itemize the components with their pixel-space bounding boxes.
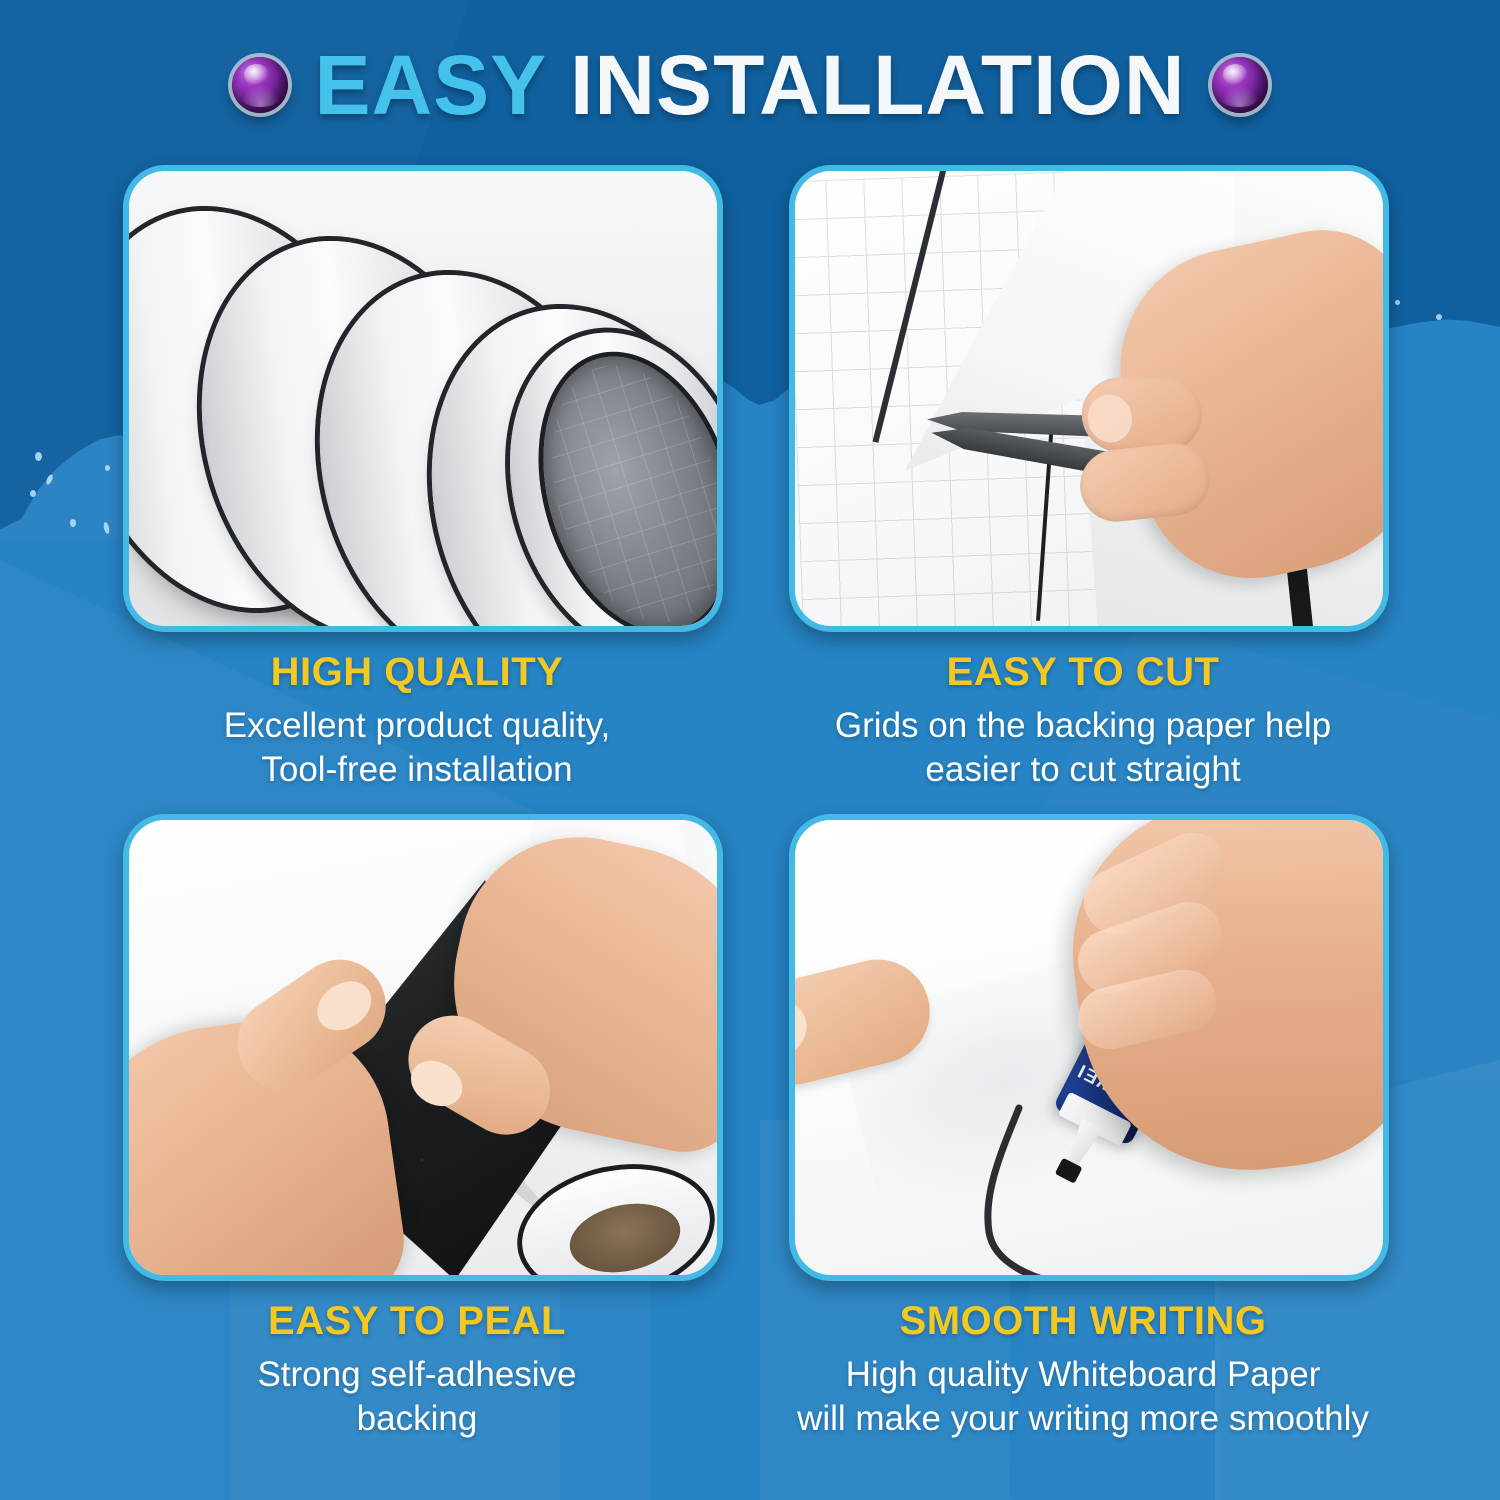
- purple-pushpin-icon-right: [1212, 57, 1268, 113]
- purple-pushpin-icon-left: [232, 57, 288, 113]
- feature-body: Strong self-adhesive backing: [131, 1353, 703, 1441]
- feature-row-2: EASY TO PEAL Strong self-adhesive backin…: [0, 814, 1500, 1441]
- feature-caption: HIGH QUALITY Excellent product quality, …: [123, 632, 711, 792]
- photo-marker-writing[interactable]: JIAWEI og JW-528 No.1: [789, 814, 1389, 1281]
- feature-card-easy-to-peal: EASY TO PEAL Strong self-adhesive backin…: [123, 814, 711, 1441]
- page-header: EASY INSTALLATION: [0, 30, 1500, 140]
- feature-caption: EASY TO PEAL Strong self-adhesive backin…: [123, 1281, 711, 1441]
- feature-title: HIGH QUALITY: [131, 650, 703, 694]
- feature-caption: EASY TO CUT Grids on the backing paper h…: [789, 632, 1377, 792]
- feature-body-line: easier to cut straight: [797, 748, 1369, 792]
- feature-body-line: Strong self-adhesive: [131, 1353, 703, 1397]
- page-title-accent: EASY: [314, 38, 545, 132]
- feature-body-line: Grids on the backing paper help: [797, 704, 1369, 748]
- easy-installation-infographic: EASY INSTALLATION: [0, 0, 1500, 1500]
- feature-body-line: Excellent product quality,: [131, 704, 703, 748]
- hand-right-holding: [426, 820, 717, 1163]
- feature-card-easy-to-cut: EASY TO CUT Grids on the backing paper h…: [789, 165, 1377, 792]
- feature-caption: SMOOTH WRITING High quality Whiteboard P…: [789, 1281, 1377, 1441]
- fingernail: [795, 990, 813, 1068]
- feature-row-1: HIGH QUALITY Excellent product quality, …: [0, 165, 1500, 792]
- photo-rolled-sheet[interactable]: [123, 165, 723, 632]
- feature-body-line: will make your writing more smoothly: [797, 1397, 1369, 1441]
- feature-title: SMOOTH WRITING: [797, 1299, 1369, 1343]
- page-title-main: INSTALLATION: [570, 38, 1185, 132]
- feature-card-high-quality: HIGH QUALITY Excellent product quality, …: [123, 165, 711, 792]
- feature-body-line: backing: [131, 1397, 703, 1441]
- feature-body: Excellent product quality, Tool-free ins…: [131, 704, 703, 792]
- feature-title: EASY TO CUT: [797, 650, 1369, 694]
- page-title: EASY INSTALLATION: [314, 43, 1185, 127]
- feature-body: High quality Whiteboard Paper will make …: [797, 1353, 1369, 1441]
- photo-peeling-backing[interactable]: [123, 814, 723, 1281]
- feature-body-line: High quality Whiteboard Paper: [797, 1353, 1369, 1397]
- feature-card-smooth-writing: JIAWEI og JW-528 No.1: [789, 814, 1377, 1441]
- feature-body-line: Tool-free installation: [131, 748, 703, 792]
- feature-title: EASY TO PEAL: [131, 1299, 703, 1343]
- feature-body: Grids on the backing paper help easier t…: [797, 704, 1369, 792]
- feature-grid: HIGH QUALITY Excellent product quality, …: [0, 165, 1500, 1441]
- photo-scissors-cutting[interactable]: [789, 165, 1389, 632]
